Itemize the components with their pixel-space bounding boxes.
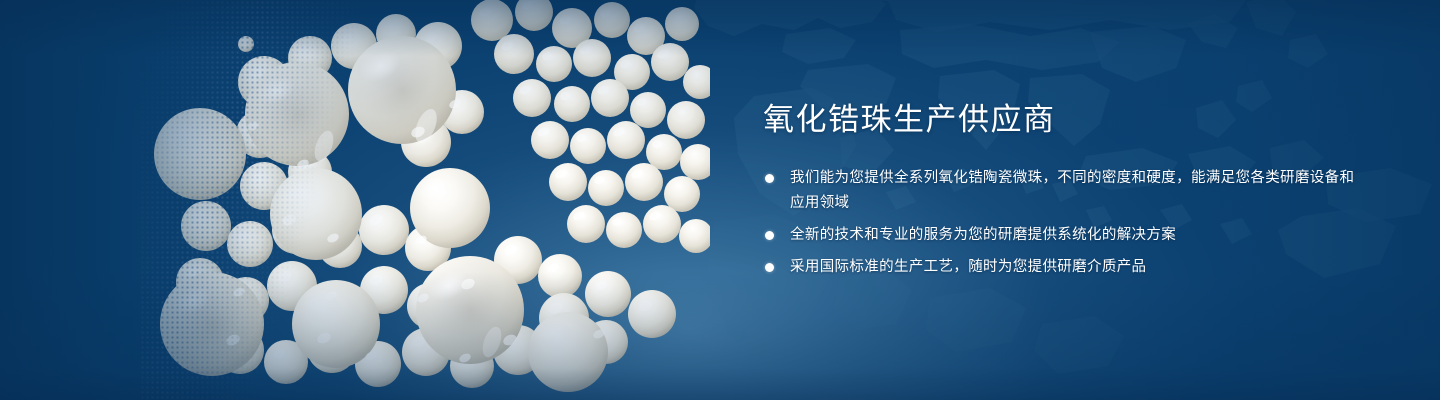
feature-bullet-list: 我们能为您提供全系列氧化锆陶瓷微珠，不同的密度和硬度，能满足您各类研磨设备和应用… — [763, 166, 1363, 280]
bullet-dot-icon — [765, 263, 774, 272]
list-item: 采用国际标准的生产工艺，随时为您提供研磨介质产品 — [763, 255, 1363, 280]
bullet-dot-icon — [765, 231, 774, 240]
list-item: 全新的技术和专业的服务为您的研磨提供系统化的解决方案 — [763, 223, 1363, 248]
bullet-dot-icon — [765, 174, 774, 183]
list-item: 我们能为您提供全系列氧化锆陶瓷微珠，不同的密度和硬度，能满足您各类研磨设备和应用… — [763, 166, 1363, 216]
bullet-text: 采用国际标准的生产工艺，随时为您提供研磨介质产品 — [790, 255, 1363, 280]
banner-headline: 氧化锆珠生产供应商 — [763, 100, 1363, 140]
banner-copy: 氧化锆珠生产供应商 我们能为您提供全系列氧化锆陶瓷微珠，不同的密度和硬度，能满足… — [763, 100, 1363, 280]
promo-banner: 氧化锆珠生产供应商 我们能为您提供全系列氧化锆陶瓷微珠，不同的密度和硬度，能满足… — [0, 0, 1440, 400]
bullet-text: 全新的技术和专业的服务为您的研磨提供系统化的解决方案 — [790, 223, 1363, 248]
bullet-text: 我们能为您提供全系列氧化锆陶瓷微珠，不同的密度和硬度，能满足您各类研磨设备和应用… — [790, 166, 1363, 216]
